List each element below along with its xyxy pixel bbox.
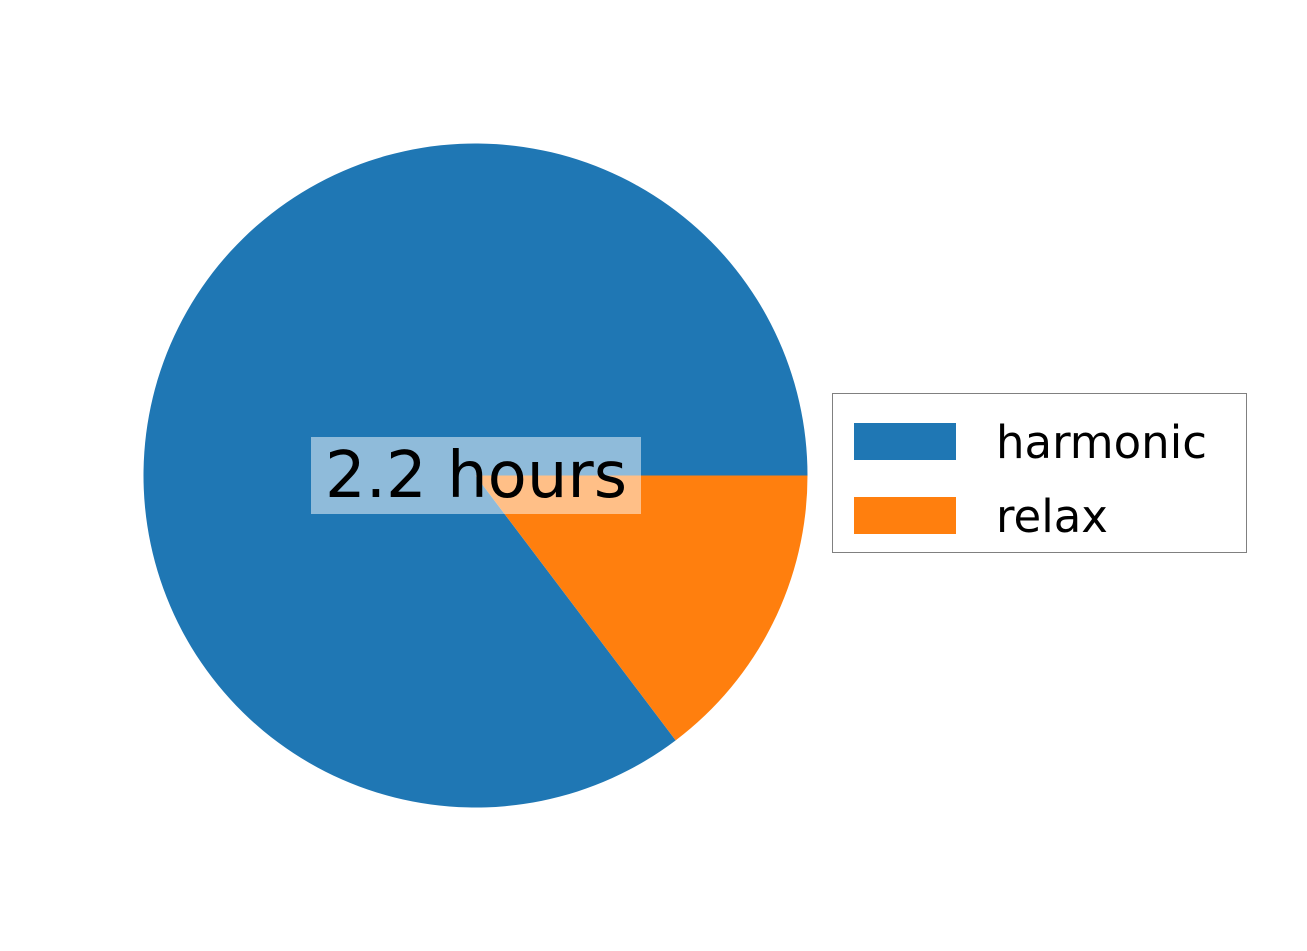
legend-entry-relax[interactable]: relax xyxy=(854,493,1108,538)
pie-center-label: 2.2 hours xyxy=(311,437,641,514)
legend-label-harmonic: harmonic xyxy=(996,420,1207,465)
pie-center-label-text: 2.2 hours xyxy=(325,444,627,508)
legend-swatch-harmonic xyxy=(854,423,956,460)
pie-chart-figure: 2.2 hours harmonic relax xyxy=(0,0,1307,951)
legend-entry-harmonic[interactable]: harmonic xyxy=(854,419,1207,464)
legend-swatch-relax xyxy=(854,497,956,534)
chart-legend: harmonic relax xyxy=(832,393,1247,553)
legend-label-relax: relax xyxy=(996,494,1108,539)
